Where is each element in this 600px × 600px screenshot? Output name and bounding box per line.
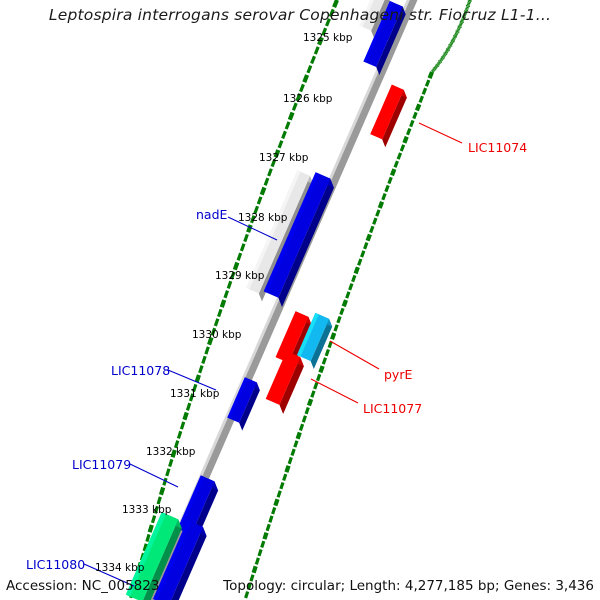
- genome-map-canvas[interactable]: [0, 0, 600, 600]
- tick-arc-dash-right-lower: [417, 104, 419, 110]
- gene-label-nade[interactable]: nadE: [196, 207, 227, 222]
- tick-arc-dash-left: [312, 56, 315, 63]
- tick-arc-dash-right-upper: [435, 68, 436, 69]
- tick-arc-dash-right-upper: [439, 62, 440, 63]
- tick-arc-dash-right-lower: [320, 366, 322, 372]
- tick-arc-dash-right-lower: [359, 259, 361, 265]
- tick-arc-dash-right-upper: [434, 69, 435, 70]
- tick-arc-dash-right-upper: [438, 63, 439, 64]
- tick-arc-dash-right-lower: [398, 153, 400, 159]
- tick-arc-dash-right-lower: [251, 575, 253, 581]
- gene-label-leader-lic11077: [311, 379, 358, 403]
- axis-tick-label: 1326 kbp: [283, 93, 332, 105]
- tick-arc-dash-right-lower: [254, 566, 256, 572]
- tick-arc-dash-left: [206, 347, 208, 354]
- gene-feature[interactable]: [263, 351, 307, 414]
- tick-arc-dash-right-lower: [365, 243, 367, 249]
- tick-arc-dash-right-lower: [286, 466, 288, 472]
- tick-arc-dash-right-lower: [312, 391, 314, 397]
- tick-arc-dash-right-lower: [338, 317, 340, 323]
- tick-arc-dash-right-lower: [300, 424, 302, 430]
- tick-arc-dash-right-lower: [329, 341, 331, 347]
- tick-arc-dash-right-upper: [432, 71, 433, 72]
- tick-arc-dash-left: [262, 188, 265, 195]
- gene-label-leader-lic11074: [419, 123, 462, 143]
- tick-arc-dash-right-lower: [407, 129, 409, 135]
- tick-arc-dash-right-lower: [262, 541, 264, 547]
- tick-arc-dash-right-lower: [350, 284, 352, 290]
- tick-arc-dash-left: [315, 47, 318, 54]
- gene-label-lic11079[interactable]: LIC11079: [72, 457, 131, 472]
- tick-arc-dash-left: [200, 366, 202, 373]
- tick-arc-dash-right-lower: [284, 474, 286, 480]
- tick-arc-dash-right-lower: [341, 308, 343, 314]
- tick-arc-dash-left: [301, 84, 304, 91]
- tick-arc-dash-right-lower: [395, 161, 397, 167]
- tick-arc-dash-right-lower: [248, 583, 250, 589]
- tick-arc-dash-right-lower: [420, 96, 422, 102]
- tick-arc-dash-right-lower: [344, 300, 346, 306]
- tick-arc-dash-left: [241, 244, 244, 251]
- tick-arc-dash-right-upper: [440, 61, 441, 62]
- gene-label-pyre[interactable]: pyrE: [384, 367, 412, 382]
- tick-arc-dash-right-upper: [436, 67, 437, 68]
- tick-arc-dash-right-lower: [347, 292, 349, 298]
- axis-tick-label: 1328 kbp: [238, 212, 287, 224]
- tick-arc-dash-right-lower: [309, 399, 311, 405]
- tick-arc-dash-right-lower: [275, 499, 277, 505]
- tick-arc-dash-right-upper: [443, 56, 444, 57]
- tick-arc-dash-left: [215, 319, 217, 326]
- tick-arc-dash-right-lower: [392, 169, 394, 175]
- tick-arc-layer: [130, 0, 470, 600]
- tick-arc-dash-right-lower: [414, 112, 416, 118]
- tick-arc-dash-right-lower: [380, 202, 382, 208]
- axis-tick-label: 1332 kbp: [146, 446, 195, 458]
- axis-tick-label: 1333 kbp: [122, 504, 171, 516]
- gene-label-lic11077[interactable]: LIC11077: [363, 401, 422, 416]
- tick-arc-dash-right-lower: [426, 80, 428, 86]
- tick-arc-dash-left: [245, 234, 248, 241]
- gene-label-leader-lic11079: [130, 464, 178, 487]
- tick-arc-dash-right-upper: [433, 70, 434, 71]
- tick-arc-dash-left: [152, 516, 154, 523]
- axis-tick-label: 1334 kbp: [95, 562, 144, 574]
- tick-arc-dash-right-upper: [441, 60, 442, 61]
- axis-tick-label: 1329 kbp: [215, 270, 264, 282]
- tick-arc-dash-right-lower: [362, 251, 364, 257]
- tick-arc-dash-right-lower: [423, 88, 425, 94]
- tick-arc-dash-right-lower: [389, 177, 391, 183]
- gene-label-lic11080[interactable]: LIC11080: [26, 557, 85, 572]
- gene-label-leader-pyre: [330, 341, 379, 369]
- tick-arc-dash-left: [167, 469, 169, 476]
- gene-label-lic11074[interactable]: LIC11074: [468, 140, 527, 155]
- tick-arc-dash-left: [238, 253, 241, 260]
- genome-map-viewer[interactable]: Leptospira interrogans serovar Copenhage…: [0, 0, 600, 600]
- tick-arc-dash-left: [304, 75, 307, 82]
- tick-arc-dash-right-lower: [298, 432, 300, 438]
- tick-arc-dash-right-lower: [371, 226, 373, 232]
- tick-arc-dash-right-lower: [289, 457, 291, 463]
- tick-arc-dash-right-lower: [256, 558, 258, 564]
- tick-arc-dash-left: [228, 281, 231, 288]
- tick-arc-dash-left: [269, 169, 272, 176]
- tick-arc-dash-right-lower: [411, 120, 413, 126]
- tick-arc-dash-right-lower: [267, 524, 269, 530]
- axis-tick-label: 1330 kbp: [192, 329, 241, 341]
- tick-arc-dash-right-lower: [273, 508, 275, 514]
- tick-arc-dash-right-upper: [441, 59, 442, 60]
- axis-tick-label: 1327 kbp: [259, 152, 308, 164]
- tick-arc-dash-right-lower: [404, 137, 406, 143]
- tick-arc-dash-left: [161, 488, 163, 495]
- tick-arc-dash-left: [290, 113, 293, 120]
- tick-arc-dash-left: [147, 534, 149, 541]
- tick-arc-dash-left: [170, 459, 172, 466]
- page-title: Leptospira interrogans serovar Copenhage…: [0, 6, 600, 24]
- axis-tick-label: 1325 kbp: [303, 32, 352, 44]
- tick-arc-dash-left: [178, 431, 180, 438]
- tick-arc-dash-right-lower: [278, 491, 280, 497]
- tick-arc-dash-left: [265, 178, 268, 185]
- tick-arc-dash-left: [235, 263, 238, 270]
- gene-label-lic11078[interactable]: LIC11078: [111, 363, 170, 378]
- tick-arc-dash-right-lower: [374, 218, 376, 224]
- tick-arc-dash-right-lower: [368, 234, 370, 240]
- tick-arc-dash-left: [197, 375, 199, 382]
- tick-arc-dash-right-lower: [318, 374, 320, 380]
- tick-arc-dash-left: [283, 131, 286, 138]
- axis-tick-label: 1331 kbp: [170, 388, 219, 400]
- tick-arc-dash-right-upper: [436, 66, 437, 67]
- tick-arc-dash-right-lower: [306, 407, 308, 413]
- tick-arc-dash-left: [203, 356, 205, 363]
- tick-arc-dash-right-lower: [326, 350, 328, 356]
- tick-arc-dash-right-lower: [335, 325, 337, 331]
- tick-arc-dash-right-lower: [259, 549, 261, 555]
- tick-arc-dash-right-lower: [270, 516, 272, 522]
- tick-arc-dash-left: [225, 291, 227, 298]
- tick-arc-dash-right-upper: [437, 65, 438, 66]
- gene-label-leader-lic11078: [168, 370, 216, 390]
- tick-arc-dash-right-lower: [356, 267, 358, 273]
- tick-arc-dash-left: [286, 122, 289, 129]
- tick-arc-dash-right-lower: [295, 441, 297, 447]
- tick-arc-dash-left: [258, 197, 261, 204]
- tick-arc-dash-right-lower: [386, 185, 388, 191]
- tick-arc-dash-right-upper: [442, 58, 443, 59]
- tick-arc-dash-right-lower: [246, 592, 248, 598]
- tick-arc-dash-left: [150, 525, 152, 532]
- tick-arc-dash-right-lower: [377, 210, 379, 216]
- tick-arc-dash-right-lower: [303, 416, 305, 422]
- tick-arc-dash-left: [181, 422, 183, 429]
- tick-arc-dash-left: [222, 300, 224, 307]
- tick-arc-dash-right-lower: [281, 482, 283, 488]
- tick-arc-dash-left: [219, 309, 221, 316]
- tick-arc-dash-right-lower: [353, 275, 355, 281]
- tick-arc-dash-left: [184, 413, 186, 420]
- tick-arc-dash-right-upper: [438, 64, 439, 65]
- tick-arc-dash-right-lower: [315, 383, 317, 389]
- tick-arc-dash-right-lower: [430, 72, 432, 78]
- tick-arc-dash-right-lower: [323, 358, 325, 364]
- tick-arc-dash-right-lower: [332, 333, 334, 339]
- tick-arc-dash-right-lower: [264, 533, 266, 539]
- tick-arc-dash-right-upper: [442, 57, 443, 58]
- tick-arc-dash-left: [308, 66, 311, 73]
- tick-arc-dash-left: [187, 403, 189, 410]
- tick-arc-dash-left: [279, 141, 282, 148]
- tick-arc-dash-right-upper: [434, 69, 435, 70]
- tick-arc-dash-right-lower: [292, 449, 294, 455]
- tick-arc-dash-right-lower: [401, 145, 403, 151]
- tick-arc-dash-left: [158, 497, 160, 504]
- tick-arc-dash-right-lower: [383, 194, 385, 200]
